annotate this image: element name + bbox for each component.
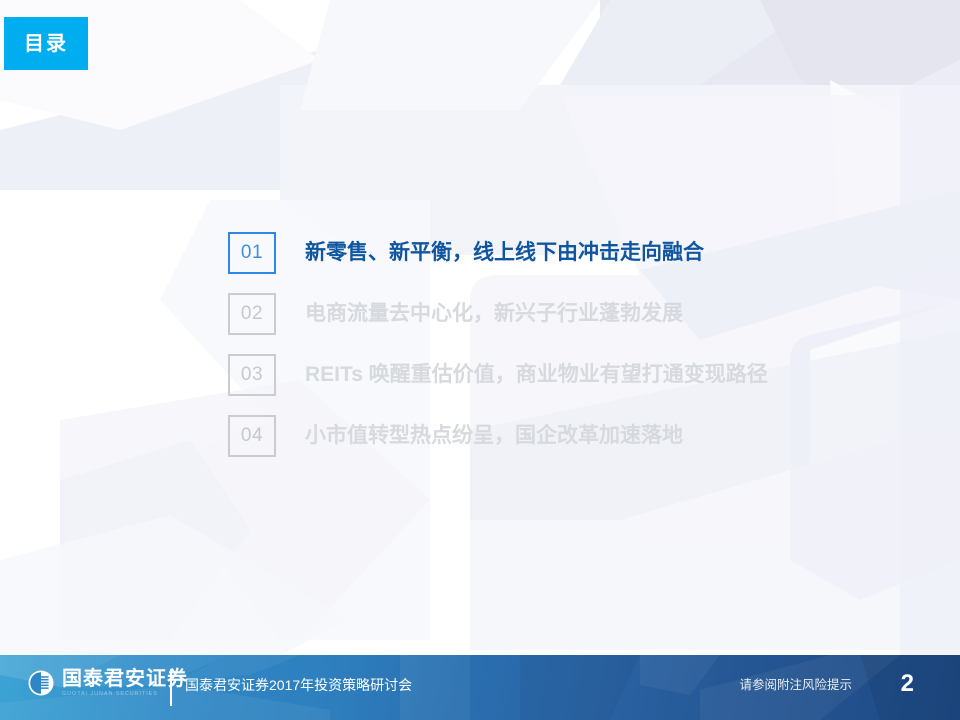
agenda-list: 01 新零售、新平衡，线上线下由冲击走向融合 02 电商流量去中心化，新兴子行业… xyxy=(228,222,928,466)
agenda-number-box-04: 04 xyxy=(228,415,276,457)
footer-divider xyxy=(170,669,172,706)
footer-risk-note: 请参阅附注风险提示 xyxy=(739,679,852,692)
agenda-item-03[interactable]: 03 REITs 唤醒重估价值，商业物业有望打通变现路径 xyxy=(228,344,928,405)
agenda-number-box-01: 01 xyxy=(228,232,276,274)
agenda-number-box-03: 03 xyxy=(228,354,276,396)
company-logo: 国泰君安证券 GUOTAI JUNAN SECURITIES xyxy=(28,669,188,698)
agenda-label-02: 电商流量去中心化，新兴子行业蓬勃发展 xyxy=(305,303,683,324)
agenda-number-01: 01 xyxy=(241,243,263,262)
agenda-number-04: 04 xyxy=(241,426,263,445)
agenda-label-01: 新零售、新平衡，线上线下由冲击走向融合 xyxy=(305,242,704,263)
agenda-number-box-02: 02 xyxy=(228,293,276,335)
section-title-text: 目录 xyxy=(24,34,68,54)
footer-event-title: 国泰君安证券2017年投资策略研讨会 xyxy=(185,678,412,692)
slide-canvas: 目录 01 新零售、新平衡，线上线下由冲击走向融合 02 电商流量去中心化，新兴… xyxy=(0,0,960,720)
agenda-number-02: 02 xyxy=(241,304,263,323)
agenda-item-01[interactable]: 01 新零售、新平衡，线上线下由冲击走向融合 xyxy=(228,222,928,283)
agenda-item-04[interactable]: 04 小市值转型热点纷呈，国企改革加速落地 xyxy=(228,405,928,466)
footer-bar: 国泰君安证券 GUOTAI JUNAN SECURITIES 国泰君安证券201… xyxy=(0,655,960,720)
agenda-label-03: REITs 唤醒重估价值，商业物业有望打通变现路径 xyxy=(305,364,768,385)
page-number: 2 xyxy=(901,672,914,696)
section-title-chip: 目录 xyxy=(4,17,88,70)
agenda-item-02[interactable]: 02 电商流量去中心化，新兴子行业蓬勃发展 xyxy=(228,283,928,344)
logo-circle-icon xyxy=(28,670,54,696)
agenda-number-03: 03 xyxy=(241,365,263,384)
agenda-label-04: 小市值转型热点纷呈，国企改革加速落地 xyxy=(305,425,683,446)
